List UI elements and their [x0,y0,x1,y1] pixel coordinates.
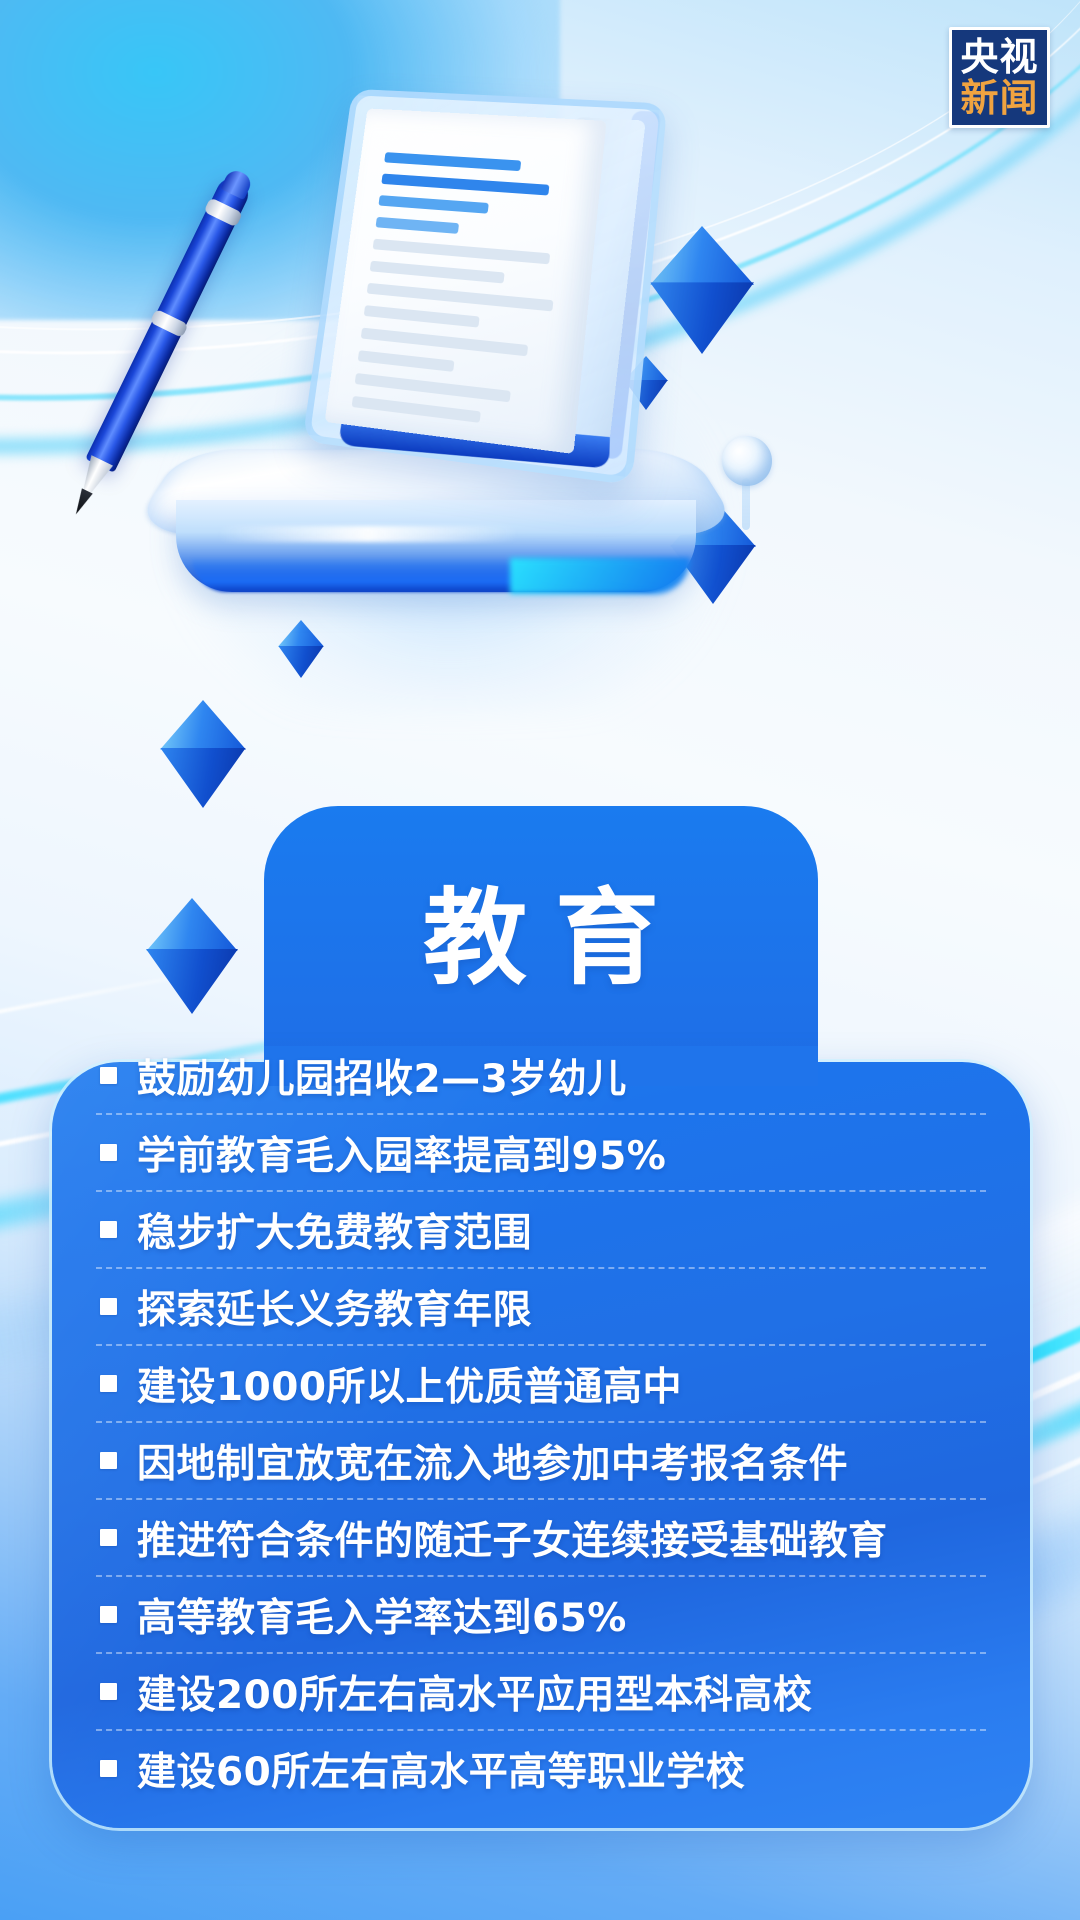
cctv-news-logo: 央视 新闻 [949,27,1050,128]
glass-sphere-icon [722,436,772,486]
list-item[interactable]: 因地制宜放宽在流入地参加中考报名条件 [96,1421,986,1498]
list-item[interactable]: 建设200所左右高水平应用型本科高校 [96,1652,986,1729]
list-item-label: 学前教育毛入园率提高到95% [137,1125,666,1181]
bullet-square-icon [100,1606,117,1623]
bullet-square-icon [100,1683,117,1700]
list-item[interactable]: 高等教育毛入学率达到65% [96,1575,986,1652]
pedestal-cyan-highlight [510,558,690,594]
page-title: 教育 [264,884,818,993]
list-item[interactable]: 学前教育毛入园率提高到95% [96,1113,986,1190]
logo-line-yangshi: 央视 [960,38,1038,76]
bullet-square-icon [100,1144,117,1161]
list-item[interactable]: 探索延长义务教育年限 [96,1267,986,1344]
bullet-square-icon [100,1529,117,1546]
blue-crystal-octahedron-icon [650,226,754,354]
list-item[interactable]: 建设1000所以上优质普通高中 [96,1344,986,1421]
open-book-icon [318,88,648,488]
bullet-square-icon [100,1760,117,1777]
blue-crystal-octahedron-icon [278,620,324,678]
list-item-label: 建设60所左右高水平高等职业学校 [137,1741,745,1797]
logo-line-xinwen: 新闻 [960,79,1038,117]
bullet-square-icon [100,1298,117,1315]
list-item[interactable]: 鼓励幼儿园招收2—3岁幼儿 [96,1038,986,1113]
bullet-square-icon [100,1067,117,1084]
bullet-square-icon [100,1221,117,1238]
bullet-square-icon [100,1375,117,1392]
list-item-label: 建设200所左右高水平应用型本科高校 [137,1664,812,1720]
list-item-label: 推进符合条件的随迁子女连续接受基础教育 [137,1510,888,1566]
list-item-label: 鼓励幼儿园招收2—3岁幼儿 [137,1048,627,1104]
list-item-label: 因地制宜放宽在流入地参加中考报名条件 [137,1433,848,1489]
pen-tip [71,488,93,517]
policy-list: 鼓励幼儿园招收2—3岁幼儿 学前教育毛入园率提高到95% 稳步扩大免费教育范围 … [52,1038,1030,1806]
poster-root: 央视 新闻 [0,0,1080,1920]
blue-crystal-octahedron-icon [160,700,246,808]
list-item-label: 稳步扩大免费教育范围 [137,1202,532,1258]
bullet-square-icon [100,1452,117,1469]
education-card: 教育 鼓励幼儿园招收2—3岁幼儿 学前教育毛入园率提高到95% 稳步扩大免费教育… [52,806,1030,1828]
book-page-text-lines [325,108,607,454]
list-item[interactable]: 推进符合条件的随迁子女连续接受基础教育 [96,1498,986,1575]
education-3d-illustration [130,60,780,670]
list-item[interactable]: 建设60所左右高水平高等职业学校 [96,1729,986,1806]
list-item-label: 高等教育毛入学率达到65% [137,1587,627,1643]
pedestal-highlight [218,526,518,542]
list-item-label: 探索延长义务教育年限 [137,1279,532,1335]
list-item-label: 建设1000所以上优质普通高中 [137,1356,682,1412]
list-item[interactable]: 稳步扩大免费教育范围 [96,1190,986,1267]
